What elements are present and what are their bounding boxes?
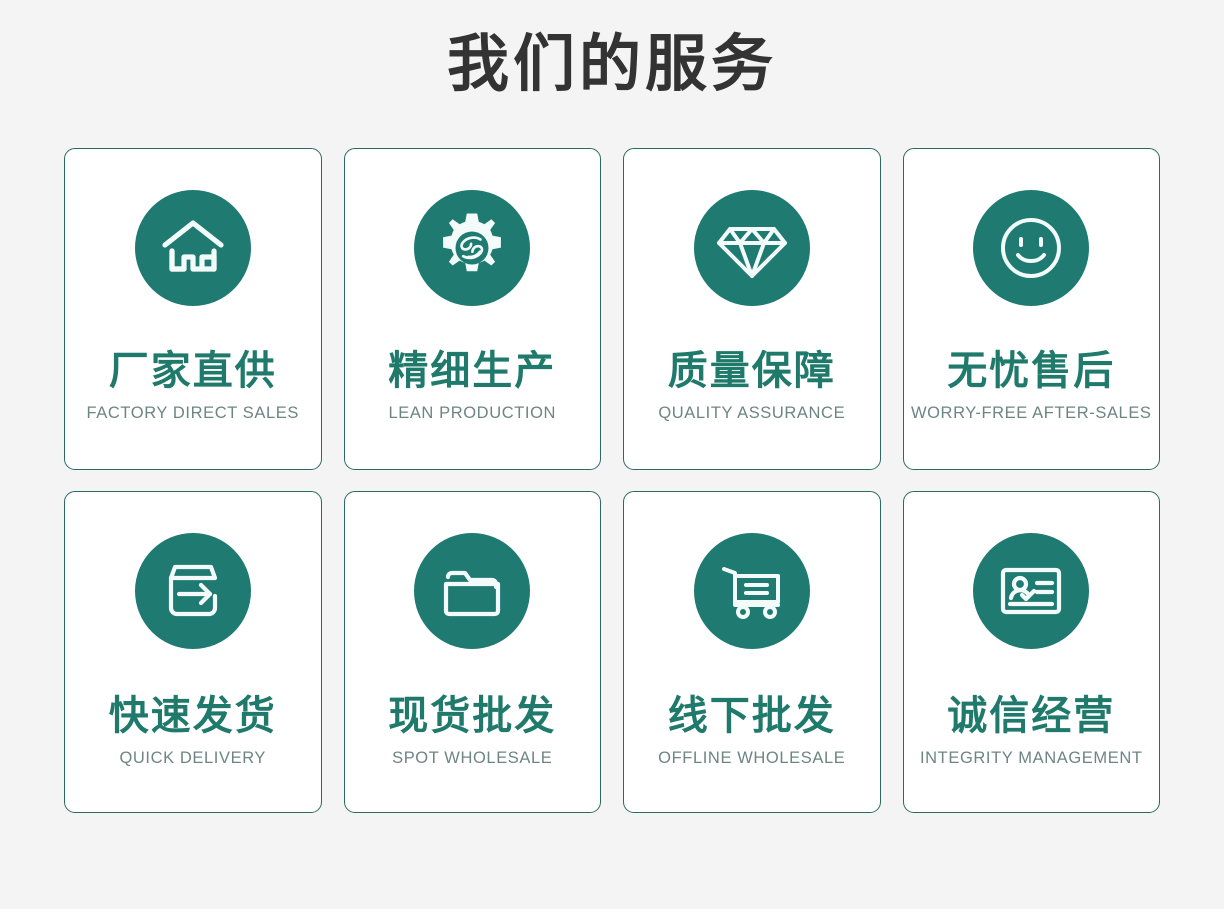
service-card-subtitle: FACTORY DIRECT SALES	[86, 404, 299, 423]
diamond-icon	[694, 190, 810, 306]
service-card-subtitle: SPOT WHOLESALE	[392, 749, 552, 768]
service-card-factory-direct-sales[interactable]: 厂家直供 FACTORY DIRECT SALES	[64, 148, 322, 470]
service-card-subtitle: LEAN PRODUCTION	[388, 404, 556, 423]
service-card-title: 无忧售后	[947, 351, 1115, 391]
service-card-title: 线下批发	[668, 696, 836, 736]
box-arrow-out-icon	[135, 533, 251, 649]
gear-swirl-icon	[414, 190, 530, 306]
service-card-lean-production[interactable]: 精细生产 LEAN PRODUCTION	[344, 148, 602, 470]
service-card-worry-free-after-sales[interactable]: 无忧售后 WORRY-FREE AFTER-SALES	[903, 148, 1161, 470]
services-page: 我们的服务 厂家直供 FACTORY DIRECT SALES	[0, 0, 1224, 909]
home-icon	[135, 190, 251, 306]
service-card-title: 厂家直供	[109, 351, 277, 391]
service-card-quick-delivery[interactable]: 快速发货 QUICK DELIVERY	[64, 491, 322, 813]
services-grid: 厂家直供 FACTORY DIRECT SALES 精细生产	[64, 148, 1160, 813]
service-card-quality-assurance[interactable]: 质量保障 QUALITY ASSURANCE	[623, 148, 881, 470]
folder-icon	[414, 533, 530, 649]
shopping-cart-icon	[694, 533, 810, 649]
service-card-title: 质量保障	[668, 351, 836, 391]
smiley-face-icon	[973, 190, 1089, 306]
id-card-check-icon	[973, 533, 1089, 649]
service-card-subtitle: QUALITY ASSURANCE	[658, 404, 845, 423]
service-card-integrity-management[interactable]: 诚信经营 INTEGRITY MANAGEMENT	[903, 491, 1161, 813]
service-card-title: 快速发货	[109, 696, 277, 736]
service-card-subtitle: OFFLINE WHOLESALE	[658, 749, 845, 768]
service-card-spot-wholesale[interactable]: 现货批发 SPOT WHOLESALE	[344, 491, 602, 813]
service-card-title: 诚信经营	[947, 696, 1115, 736]
service-card-subtitle: QUICK DELIVERY	[119, 749, 266, 768]
service-card-offline-wholesale[interactable]: 线下批发 OFFLINE WHOLESALE	[623, 491, 881, 813]
service-card-subtitle: WORRY-FREE AFTER-SALES	[911, 404, 1152, 423]
service-card-subtitle: INTEGRITY MANAGEMENT	[920, 749, 1143, 768]
page-title: 我们的服务	[0, 0, 1224, 122]
service-card-title: 精细生产	[388, 351, 556, 391]
service-card-title: 现货批发	[388, 696, 556, 736]
